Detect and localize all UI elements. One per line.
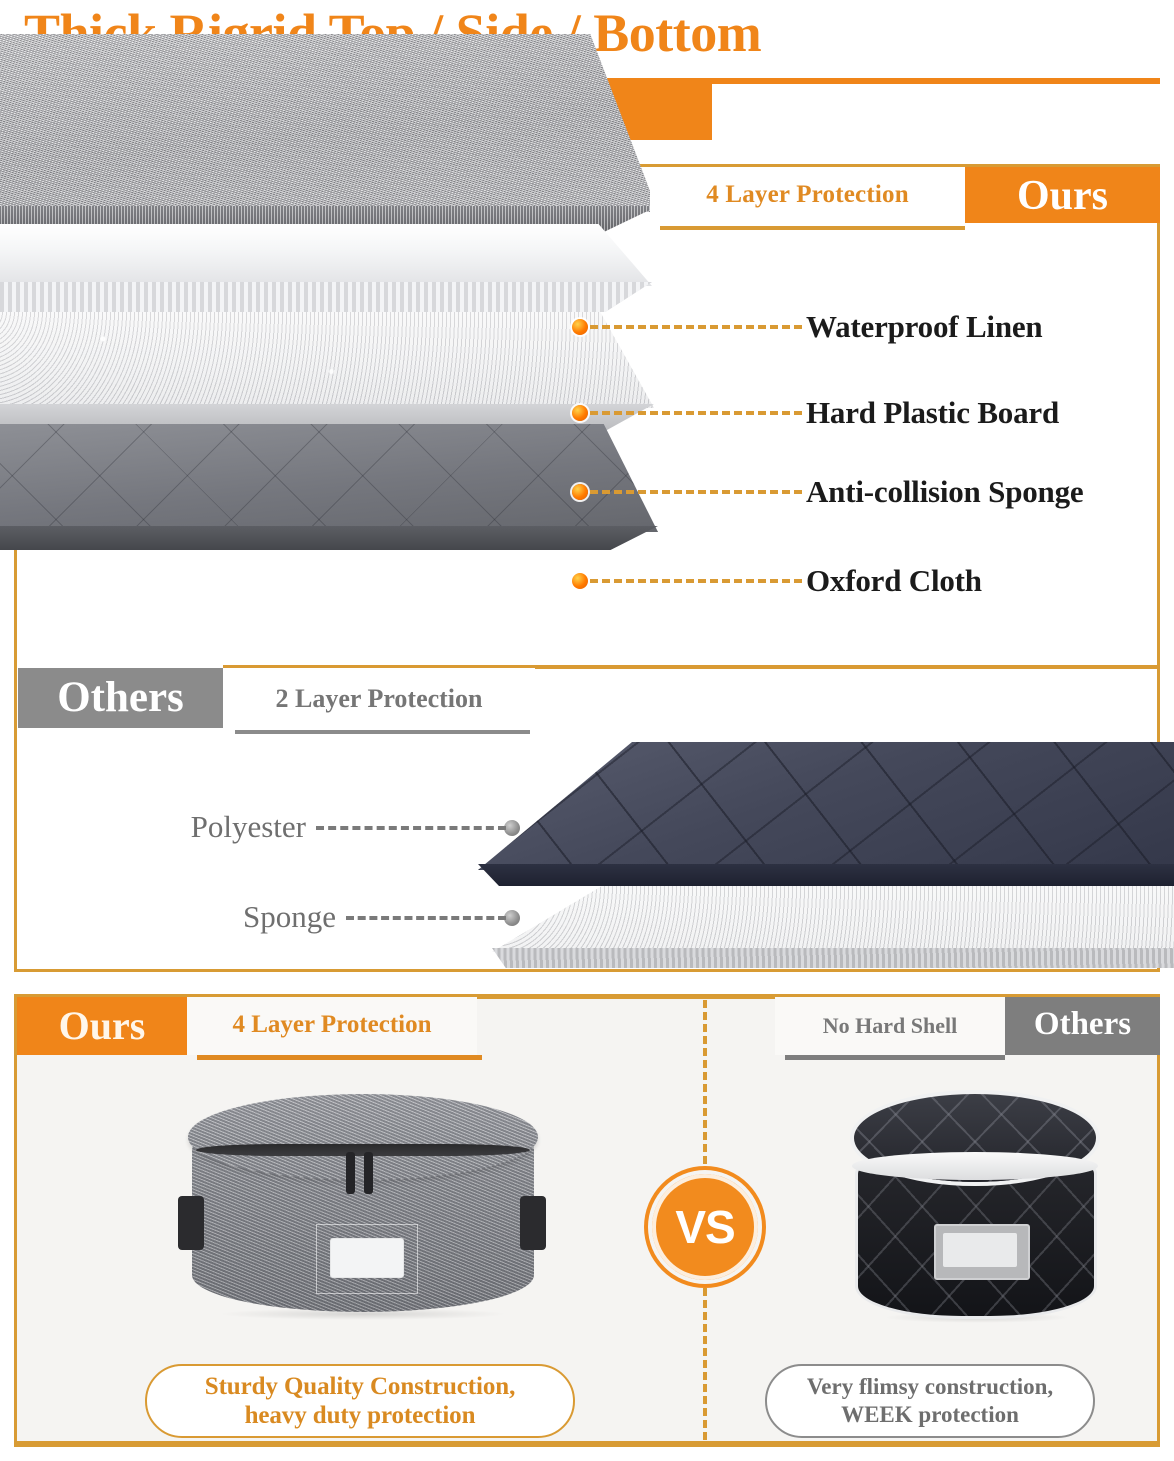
callout-dashed-line [590, 579, 802, 583]
case-lid [188, 1094, 538, 1180]
versus-label: VS [675, 1204, 734, 1250]
callout-polyester: Polyester [140, 808, 520, 848]
callout-dot-icon [572, 573, 588, 589]
zipper-pull-icon [364, 1152, 373, 1194]
callout-dashed-line [316, 826, 506, 830]
comparison-others-brand-tag-label: Others [1005, 1004, 1160, 1044]
product-image-ours [168, 1086, 558, 1336]
caption-ours-line1: Sturdy Quality Construction, [205, 1373, 515, 1400]
comparison-ours-tag-underline [197, 1055, 482, 1060]
comparison-panel-bottom-rule [14, 1441, 1160, 1447]
callout-label: Hard Plastic Board [806, 393, 1059, 433]
case-label-card [943, 1233, 1017, 1267]
case-label-card [330, 1238, 404, 1278]
layer-slab-sponge [492, 886, 1174, 978]
callout-label: Polyester [191, 805, 306, 849]
comparison-ours-feature-tag-label: 4 Layer Protection [187, 1010, 477, 1040]
others-tag-underline [235, 730, 530, 734]
caption-pill-ours: Sturdy Quality Construction, heavy duty … [145, 1364, 575, 1438]
layer-slab-hard-plastic-board [0, 224, 652, 320]
comparison-others-feature-tag-label: No Hard Shell [775, 1012, 1005, 1040]
others-brand-tag-label: Others [18, 673, 223, 723]
callout-label: Sponge [243, 895, 336, 939]
callout-label: Anti-collision Sponge [806, 472, 1083, 512]
zipper-pull-icon [346, 1152, 355, 1194]
callout-dashed-line [590, 411, 802, 415]
ours-tag-underline [660, 226, 965, 230]
versus-badge: VS [652, 1174, 758, 1280]
callout-label: Oxford Cloth [806, 561, 982, 601]
others-layer-stack-illustration [478, 742, 1174, 964]
caption-ours-line2: heavy duty protection [245, 1402, 476, 1429]
callout-dashed-line [346, 916, 506, 920]
layer-slab-polyester [478, 742, 1174, 892]
callout-dot-icon [504, 820, 520, 836]
product-image-others [848, 1086, 1108, 1336]
case-zipper [196, 1144, 530, 1156]
comparison-others-tag-underline [785, 1055, 1005, 1060]
callout-dot-icon [572, 484, 588, 500]
caption-others-line1: Very flimsy construction, [807, 1374, 1053, 1399]
case-handle-left [178, 1196, 204, 1250]
caption-pill-others: Very flimsy construction, WEEK protectio… [765, 1364, 1095, 1438]
caption-others-line2: WEEK protection [841, 1402, 1019, 1427]
case-handle-right [520, 1196, 546, 1250]
callout-dot-icon [504, 910, 520, 926]
callout-label: Waterproof Linen [806, 307, 1042, 347]
ours-4layer-tag-label: 4 Layer Protection [650, 180, 965, 210]
layer-slab-anti-collision-sponge [0, 312, 654, 432]
callout-dot-icon [572, 405, 588, 421]
callout-dashed-line [590, 490, 802, 494]
infographic-page: Thick Rigrid Top / Side / Bottom Reliabl… [0, 0, 1174, 1461]
callout-sponge: Sponge [170, 898, 520, 938]
layer-slab-oxford-cloth [0, 424, 658, 556]
callout-dashed-line [590, 325, 802, 329]
others-2layer-tag-label: 2 Layer Protection [223, 684, 535, 714]
ours-brand-tag-label: Ours [965, 172, 1160, 220]
layer-slab-waterproof-linen [0, 34, 658, 234]
callout-dot-icon [572, 319, 588, 335]
case-rim [852, 1152, 1098, 1180]
comparison-ours-brand-tag-label: Ours [17, 1003, 187, 1049]
